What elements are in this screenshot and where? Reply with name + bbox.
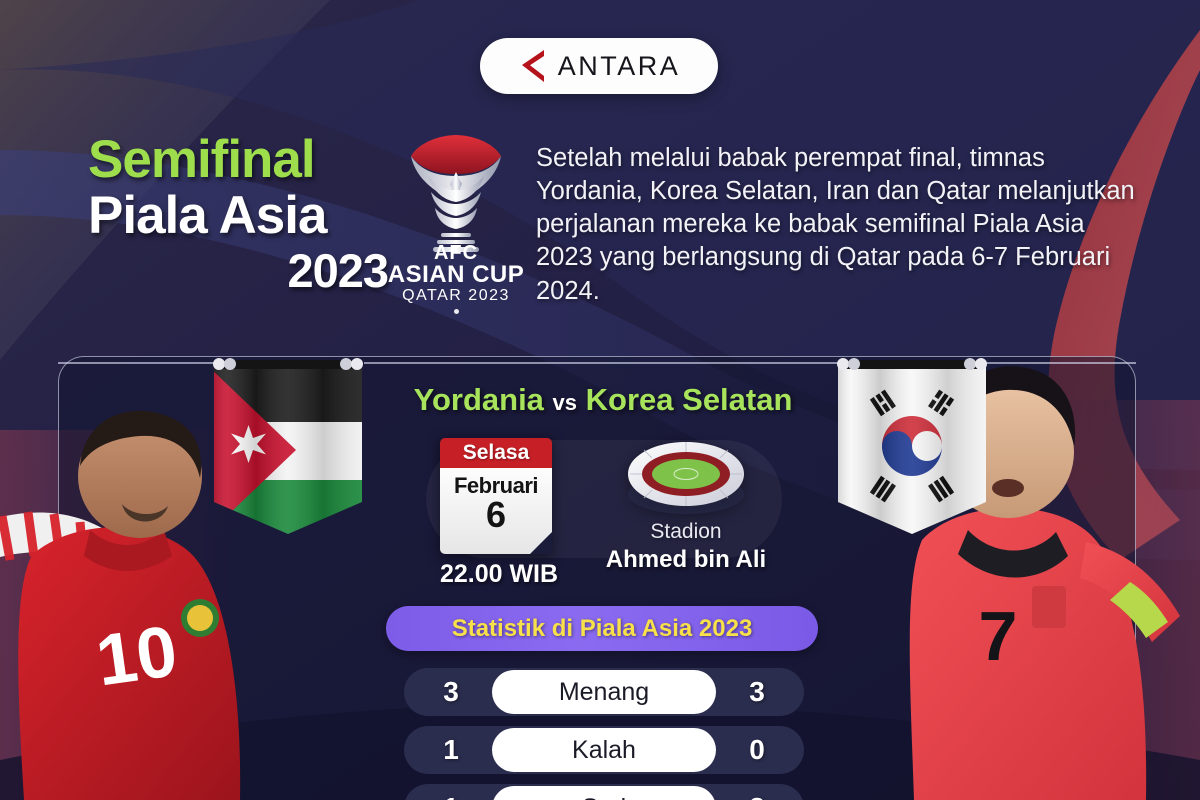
match-date-calendar: Selasa Februari 6 <box>440 438 552 554</box>
table-row: 1 Kalah 0 <box>404 726 804 774</box>
venue-name: Ahmed bin Ali <box>586 546 786 574</box>
stat-away-value: 2 <box>710 792 804 800</box>
table-row: 3 Menang 3 <box>404 668 804 716</box>
match-info-row: Selasa Februari 6 22.00 WIB <box>418 432 790 592</box>
page-title: Semifinal Piala Asia 2023 <box>88 134 388 294</box>
venue-label: Stadion <box>586 520 786 544</box>
title-line-1: Semifinal <box>88 134 388 186</box>
stat-label: Menang <box>492 670 716 714</box>
asian-cup-label: ASIAN CUP <box>385 263 527 287</box>
stats-banner-label: Statistik di Piala Asia 2023 <box>452 615 753 643</box>
stats-banner: Statistik di Piala Asia 2023 <box>386 606 818 651</box>
match-title: Yordania vs Korea Selatan <box>378 382 828 418</box>
venue-block: Stadion Ahmed bin Ali <box>586 432 786 574</box>
table-row: 1 Seri 2 <box>404 784 804 800</box>
pennant-rod-mid-line <box>364 362 838 364</box>
afc-label: AFC <box>385 243 527 263</box>
vs-label: vs <box>553 390 577 415</box>
match-kickoff-time: 22.00 WIB <box>424 560 574 589</box>
antara-arrow-icon <box>518 49 548 83</box>
away-team-name: Korea Selatan <box>586 382 793 417</box>
pennant-rod-left-line <box>58 362 214 364</box>
qatar-2023-label: QATAR 2023 <box>385 288 527 304</box>
home-team-name: Yordania <box>414 382 544 417</box>
south-korea-flag-pennant-icon <box>832 352 992 538</box>
afc-logo-dot <box>454 309 459 314</box>
stat-label: Kalah <box>492 728 716 772</box>
antara-wordmark: ANTARA <box>558 51 681 82</box>
afc-asian-cup-logo: AFC ASIAN CUP QATAR 2023 <box>385 132 527 328</box>
jordan-flag-pennant-icon <box>208 352 368 538</box>
stadium-icon <box>620 434 752 518</box>
stat-home-value: 3 <box>404 676 498 708</box>
title-line-3: 2023 <box>88 248 388 294</box>
pennant-rod-right-line <box>986 362 1136 364</box>
stat-home-value: 1 <box>404 734 498 766</box>
stat-label: Seri <box>492 786 716 800</box>
calendar-page-fold <box>530 532 552 554</box>
title-line-2: Piala Asia <box>88 190 388 242</box>
antara-logo: ANTARA <box>480 38 718 94</box>
stat-home-value: 1 <box>404 792 498 800</box>
stat-away-value: 3 <box>710 676 804 708</box>
calendar-day: 6 <box>440 498 552 532</box>
stat-away-value: 0 <box>710 734 804 766</box>
calendar-weekday: Selasa <box>440 438 552 468</box>
intro-paragraph: Setelah melalui babak perempat final, ti… <box>536 142 1136 308</box>
stats-table: 3 Menang 3 1 Kalah 0 1 Seri 2 <box>404 668 804 800</box>
